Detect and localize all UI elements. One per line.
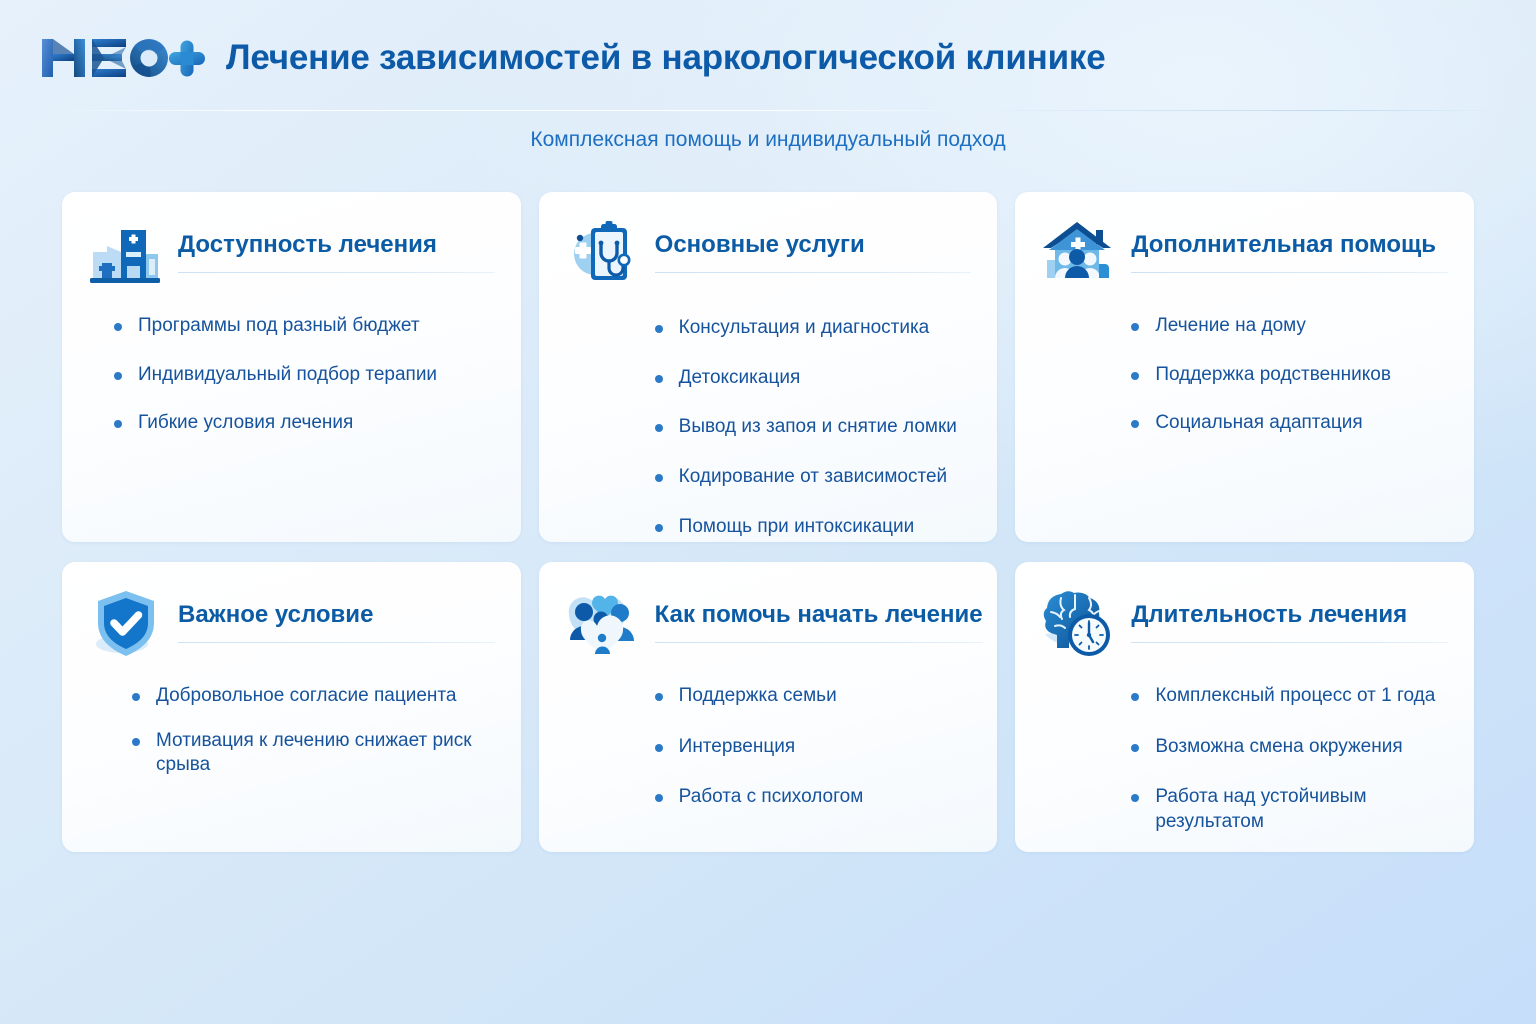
list-item: Программы под разный бюджет [114, 314, 495, 339]
card-title-rule [1131, 272, 1448, 273]
card-title-block: Важное условие [178, 588, 495, 643]
header-row: Лечение зависимостей в наркологической к… [38, 30, 1536, 86]
list-item: Детоксикация [655, 366, 972, 391]
list-item: Лечение на дому [1131, 314, 1448, 339]
card-title: Как помочь начать лечение [655, 602, 983, 628]
list-item: Добровольное согласие пациента [132, 684, 495, 709]
card-bullet-list: Лечение на дому Поддержка родственников … [1041, 314, 1448, 436]
list-item: Помощь при интоксикации [655, 515, 972, 540]
card-bullet-list: Поддержка семьи Интервенция Работа с пси… [565, 684, 972, 810]
card-title: Доступность лечения [178, 232, 495, 258]
list-item: Возможна смена окружения [1131, 735, 1448, 760]
card-header: Важное условие [88, 588, 495, 662]
list-item: Социальная адаптация [1131, 411, 1448, 436]
card-services: Основные услуги Консультация и диагности… [539, 192, 998, 542]
card-extra-help: Дополнительная помощь Лечение на дому По… [1015, 192, 1474, 542]
card-title-rule [178, 272, 495, 273]
page-subtitle: Комплексная помощь и индивидуальный подх… [0, 128, 1536, 152]
card-title-rule [655, 642, 983, 643]
header-divider [36, 110, 1500, 111]
list-item: Вывод из запоя и снятие ломки [655, 415, 972, 440]
list-item: Индивидуальный подбор терапии [114, 363, 495, 388]
hospital-building-icon [88, 216, 164, 292]
card-title-block: Как помочь начать лечение [655, 588, 983, 643]
cards-grid: Доступность лечения Программы под разный… [62, 192, 1474, 852]
card-title: Важное условие [178, 602, 495, 628]
card-header: Доступность лечения [88, 218, 495, 292]
card-title-block: Доступность лечения [178, 218, 495, 273]
card-how-to-help: Как помочь начать лечение Поддержка семь… [539, 562, 998, 852]
list-item: Работа над устойчивым результатом [1131, 785, 1448, 834]
clipboard-stethoscope-icon [565, 216, 641, 292]
card-title: Основные услуги [655, 232, 972, 258]
neo-plus-logo [38, 30, 208, 86]
list-item: Гибкие условия лечения [114, 411, 495, 436]
card-header: Длительность лечения [1041, 588, 1448, 662]
list-item: Интервенция [655, 735, 972, 760]
list-item: Кодирование от зависимостей [655, 465, 972, 490]
card-title-rule [178, 642, 495, 643]
card-bullet-list: Добровольное согласие пациента Мотивация… [88, 684, 495, 778]
home-care-people-icon [1041, 216, 1117, 292]
list-item: Поддержка семьи [655, 684, 972, 709]
page-title: Лечение зависимостей в наркологической к… [226, 38, 1106, 78]
card-header: Как помочь начать лечение [565, 588, 972, 662]
card-title-rule [1131, 642, 1448, 643]
list-item: Консультация и диагностика [655, 316, 972, 341]
list-item: Мотивация к лечению снижает риск срыва [132, 729, 495, 778]
card-title: Длительность лечения [1131, 602, 1448, 628]
family-heart-icon [565, 586, 641, 662]
shield-check-icon [88, 586, 164, 662]
page-header: Лечение зависимостей в наркологической к… [0, 0, 1536, 172]
card-access: Доступность лечения Программы под разный… [62, 192, 521, 542]
card-treatment-duration: Длительность лечения Комплексный процесс… [1015, 562, 1474, 852]
card-header: Основные услуги [565, 218, 972, 292]
card-title: Дополнительная помощь [1131, 232, 1448, 258]
card-title-block: Дополнительная помощь [1131, 218, 1448, 273]
card-header: Дополнительная помощь [1041, 218, 1448, 292]
card-title-block: Основные услуги [655, 218, 972, 273]
card-title-block: Длительность лечения [1131, 588, 1448, 643]
brain-clock-icon [1041, 586, 1117, 662]
card-title-rule [655, 272, 972, 273]
list-item: Поддержка родственников [1131, 363, 1448, 388]
card-bullet-list: Программы под разный бюджет Индивидуальн… [88, 314, 495, 436]
card-important-condition: Важное условие Добровольное согласие пац… [62, 562, 521, 852]
list-item: Комплексный процесс от 1 года [1131, 684, 1448, 709]
card-bullet-list: Консультация и диагностика Детоксикация … [565, 316, 972, 539]
list-item: Работа с психологом [655, 785, 972, 810]
card-bullet-list: Комплексный процесс от 1 года Возможна с… [1041, 684, 1448, 835]
